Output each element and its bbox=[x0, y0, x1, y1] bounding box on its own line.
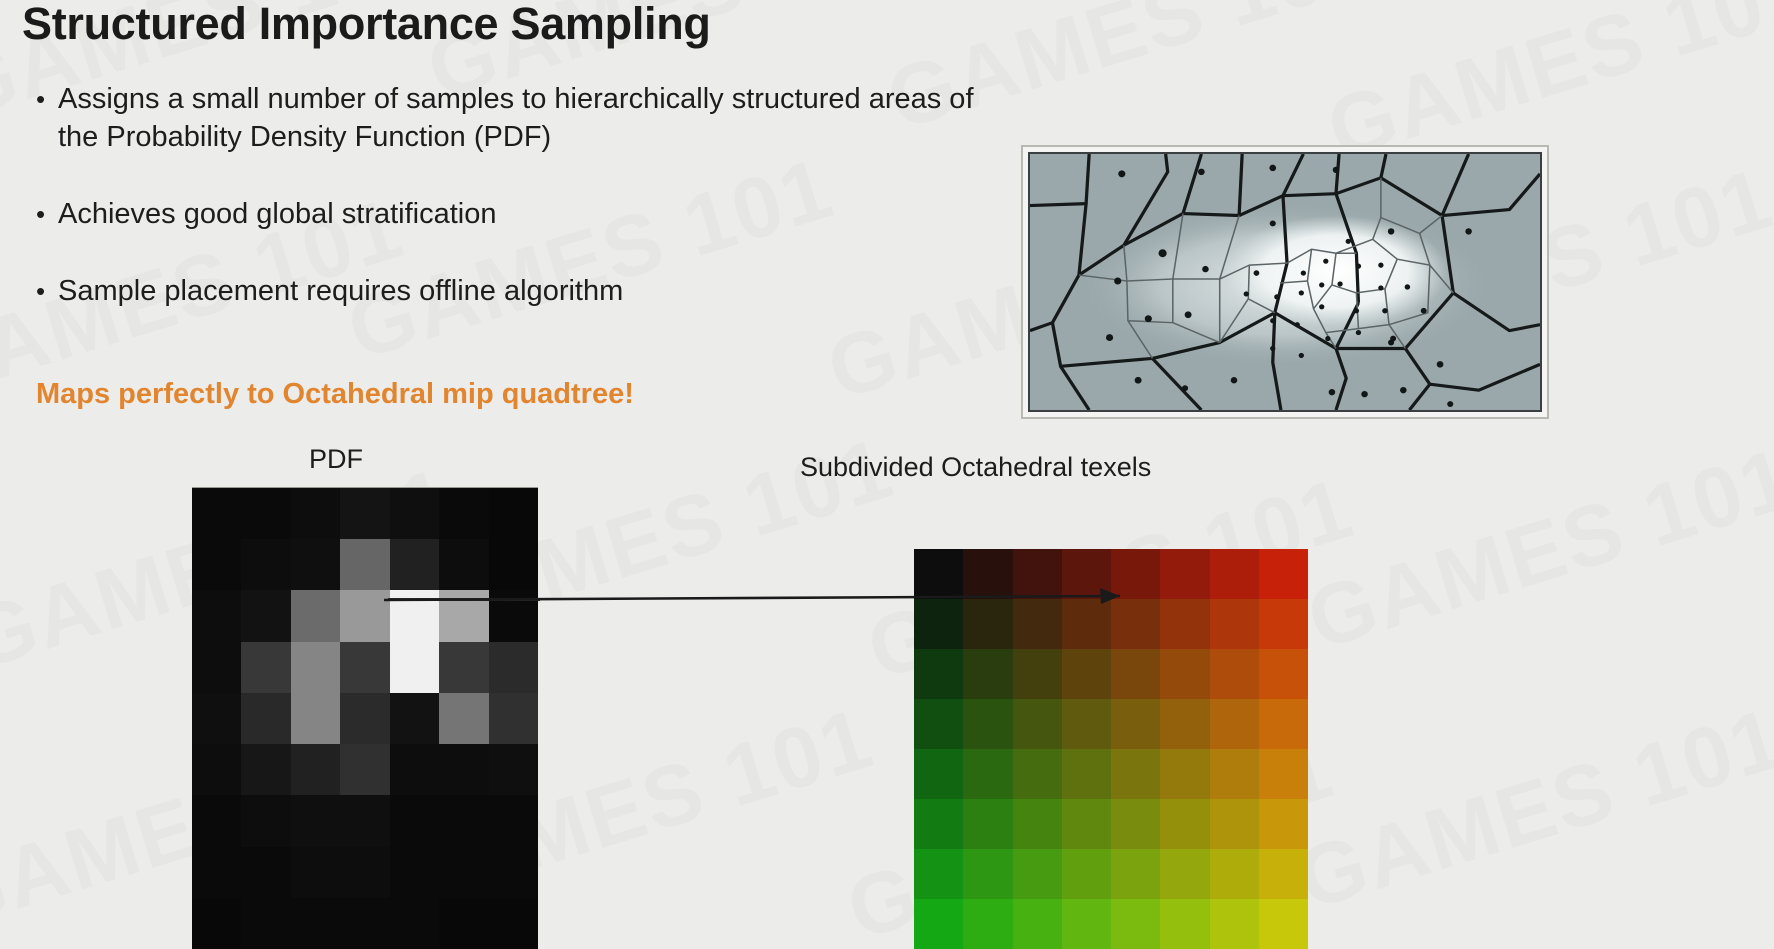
pdf-texel bbox=[291, 693, 340, 744]
octahedral-texel bbox=[1062, 849, 1111, 899]
octahedral-texel bbox=[1210, 699, 1259, 749]
octahedral-texel bbox=[1013, 599, 1062, 649]
pdf-texel bbox=[340, 590, 389, 641]
pdf-selected-texel-tick bbox=[388, 598, 540, 601]
octahedral-texel bbox=[1160, 899, 1209, 949]
pdf-texel bbox=[291, 488, 340, 539]
pdf-texel bbox=[489, 642, 538, 693]
caption-texels: Subdivided Octahedral texels bbox=[800, 452, 1151, 483]
pdf-texel bbox=[489, 898, 538, 949]
voronoi-figure bbox=[1028, 152, 1542, 412]
bullet-text-0: Assigns a small number of samples to hie… bbox=[58, 80, 988, 156]
octahedral-texel bbox=[1111, 699, 1160, 749]
octahedral-texel bbox=[1160, 849, 1209, 899]
octahedral-texel bbox=[1160, 749, 1209, 799]
pdf-texel bbox=[439, 744, 488, 795]
slide-canvas: Structured Importance Sampling • Assigns… bbox=[0, 0, 1774, 949]
octahedral-texel bbox=[1111, 749, 1160, 799]
pdf-texel bbox=[241, 590, 290, 641]
octahedral-texel bbox=[1013, 899, 1062, 949]
pdf-texel bbox=[390, 795, 439, 846]
pdf-texel bbox=[241, 642, 290, 693]
bullet-text-1: Achieves good global stratification bbox=[58, 195, 496, 233]
octahedral-texel bbox=[1259, 599, 1308, 649]
octahedral-texel bbox=[1259, 899, 1308, 949]
octahedral-texel bbox=[1062, 799, 1111, 849]
pdf-texel bbox=[291, 744, 340, 795]
octahedral-texel bbox=[1210, 549, 1259, 599]
octahedral-texel bbox=[1259, 849, 1308, 899]
octahedral-texel bbox=[914, 899, 963, 949]
octahedral-texel bbox=[963, 749, 1012, 799]
octahedral-texel bbox=[1062, 899, 1111, 949]
caption-pdf: PDF bbox=[309, 444, 363, 475]
octahedral-texel bbox=[1111, 799, 1160, 849]
pdf-texel bbox=[340, 488, 389, 539]
pdf-texel bbox=[291, 539, 340, 590]
octahedral-texel bbox=[914, 599, 963, 649]
octahedral-texel bbox=[963, 799, 1012, 849]
octahedral-texel bbox=[1160, 599, 1209, 649]
octahedral-texel bbox=[963, 899, 1012, 949]
pdf-texel bbox=[192, 898, 241, 949]
highlight-callout-text: Maps perfectly to Octahedral mip quadtre… bbox=[36, 378, 634, 411]
octahedral-texel bbox=[963, 699, 1012, 749]
octahedral-texel bbox=[1062, 749, 1111, 799]
pdf-texel bbox=[291, 847, 340, 898]
pdf-texel bbox=[192, 693, 241, 744]
pdf-texel bbox=[390, 898, 439, 949]
pdf-texel bbox=[192, 744, 241, 795]
page-title: Structured Importance Sampling bbox=[22, 0, 711, 50]
pdf-texel bbox=[489, 795, 538, 846]
octahedral-texel bbox=[1013, 749, 1062, 799]
pdf-texel bbox=[390, 847, 439, 898]
pdf-texel bbox=[192, 847, 241, 898]
pdf-texel bbox=[192, 590, 241, 641]
pdf-texel bbox=[390, 693, 439, 744]
octahedral-texel bbox=[1013, 699, 1062, 749]
octahedral-texel bbox=[1259, 799, 1308, 849]
octahedral-texel bbox=[1013, 549, 1062, 599]
pdf-texel bbox=[291, 642, 340, 693]
octahedral-texel bbox=[1160, 799, 1209, 849]
pdf-texel-grid bbox=[192, 487, 538, 949]
pdf-texel bbox=[489, 539, 538, 590]
pdf-texel bbox=[291, 795, 340, 846]
pdf-texel bbox=[241, 847, 290, 898]
octahedral-texel bbox=[1259, 749, 1308, 799]
pdf-texel bbox=[291, 590, 340, 641]
pdf-texel bbox=[439, 539, 488, 590]
octahedral-texel bbox=[1062, 599, 1111, 649]
pdf-texel bbox=[390, 539, 439, 590]
pdf-texel bbox=[439, 642, 488, 693]
bullet-item-2: • Sample placement requires offline algo… bbox=[28, 272, 623, 310]
octahedral-texel bbox=[914, 649, 963, 699]
pdf-texel bbox=[390, 744, 439, 795]
voronoi-svg bbox=[1030, 154, 1540, 410]
octahedral-texel bbox=[963, 649, 1012, 699]
pdf-texel bbox=[192, 642, 241, 693]
octahedral-texel bbox=[1210, 599, 1259, 649]
pdf-texel bbox=[241, 693, 290, 744]
pdf-texel bbox=[192, 488, 241, 539]
pdf-texel bbox=[291, 898, 340, 949]
pdf-texel bbox=[439, 693, 488, 744]
octahedral-texel bbox=[914, 699, 963, 749]
octahedral-texel bbox=[1062, 649, 1111, 699]
octahedral-texel bbox=[1111, 599, 1160, 649]
bullet-marker-icon: • bbox=[28, 195, 58, 233]
pdf-texel bbox=[439, 847, 488, 898]
pdf-texel bbox=[489, 847, 538, 898]
pdf-texel bbox=[439, 898, 488, 949]
octahedral-texel bbox=[1210, 899, 1259, 949]
octahedral-texel bbox=[1210, 799, 1259, 849]
octahedral-texel bbox=[963, 599, 1012, 649]
octahedral-texel bbox=[1111, 649, 1160, 699]
pdf-texel bbox=[489, 693, 538, 744]
bullet-item-1: • Achieves good global stratification bbox=[28, 195, 496, 233]
pdf-texel bbox=[241, 744, 290, 795]
pdf-texel bbox=[489, 744, 538, 795]
octahedral-texel bbox=[1062, 699, 1111, 749]
octahedral-texel bbox=[1210, 749, 1259, 799]
pdf-texel bbox=[340, 642, 389, 693]
pdf-texel bbox=[340, 693, 389, 744]
pdf-texel bbox=[390, 642, 439, 693]
octahedral-texel bbox=[914, 549, 963, 599]
octahedral-texel bbox=[963, 549, 1012, 599]
pdf-texel bbox=[340, 539, 389, 590]
octahedral-texel bbox=[1013, 799, 1062, 849]
subdivided-octahedral-texels-grid bbox=[914, 549, 1308, 949]
octahedral-texel bbox=[1160, 699, 1209, 749]
pdf-texel bbox=[241, 898, 290, 949]
octahedral-texel bbox=[1210, 849, 1259, 899]
bullet-text-2: Sample placement requires offline algori… bbox=[58, 272, 623, 310]
pdf-texel bbox=[241, 795, 290, 846]
octahedral-texel bbox=[914, 749, 963, 799]
pdf-texel bbox=[241, 488, 290, 539]
octahedral-texel bbox=[914, 799, 963, 849]
pdf-texel bbox=[390, 488, 439, 539]
octahedral-texel bbox=[1160, 549, 1209, 599]
octahedral-texel bbox=[1160, 649, 1209, 699]
octahedral-texel bbox=[1013, 849, 1062, 899]
pdf-texel bbox=[192, 795, 241, 846]
pdf-texel bbox=[340, 795, 389, 846]
pdf-texel bbox=[340, 898, 389, 949]
octahedral-texel bbox=[1013, 649, 1062, 699]
octahedral-texel bbox=[1062, 549, 1111, 599]
octahedral-texel bbox=[1111, 849, 1160, 899]
bullet-item-0: • Assigns a small number of samples to h… bbox=[28, 80, 988, 156]
octahedral-texel bbox=[1259, 699, 1308, 749]
pdf-texel bbox=[340, 847, 389, 898]
octahedral-texel bbox=[914, 849, 963, 899]
voronoi-figure-panel bbox=[1021, 145, 1549, 419]
octahedral-texel bbox=[1111, 899, 1160, 949]
pdf-texel bbox=[241, 539, 290, 590]
pdf-texel bbox=[192, 539, 241, 590]
octahedral-texel bbox=[1111, 549, 1160, 599]
octahedral-texel bbox=[1259, 549, 1308, 599]
octahedral-texel bbox=[1210, 649, 1259, 699]
pdf-texel bbox=[340, 744, 389, 795]
pdf-texel bbox=[439, 795, 488, 846]
octahedral-texel bbox=[1259, 649, 1308, 699]
bullet-marker-icon: • bbox=[28, 272, 58, 310]
pdf-texel bbox=[489, 488, 538, 539]
pdf-texel bbox=[439, 488, 488, 539]
bullet-marker-icon: • bbox=[28, 80, 58, 118]
octahedral-texel bbox=[963, 849, 1012, 899]
